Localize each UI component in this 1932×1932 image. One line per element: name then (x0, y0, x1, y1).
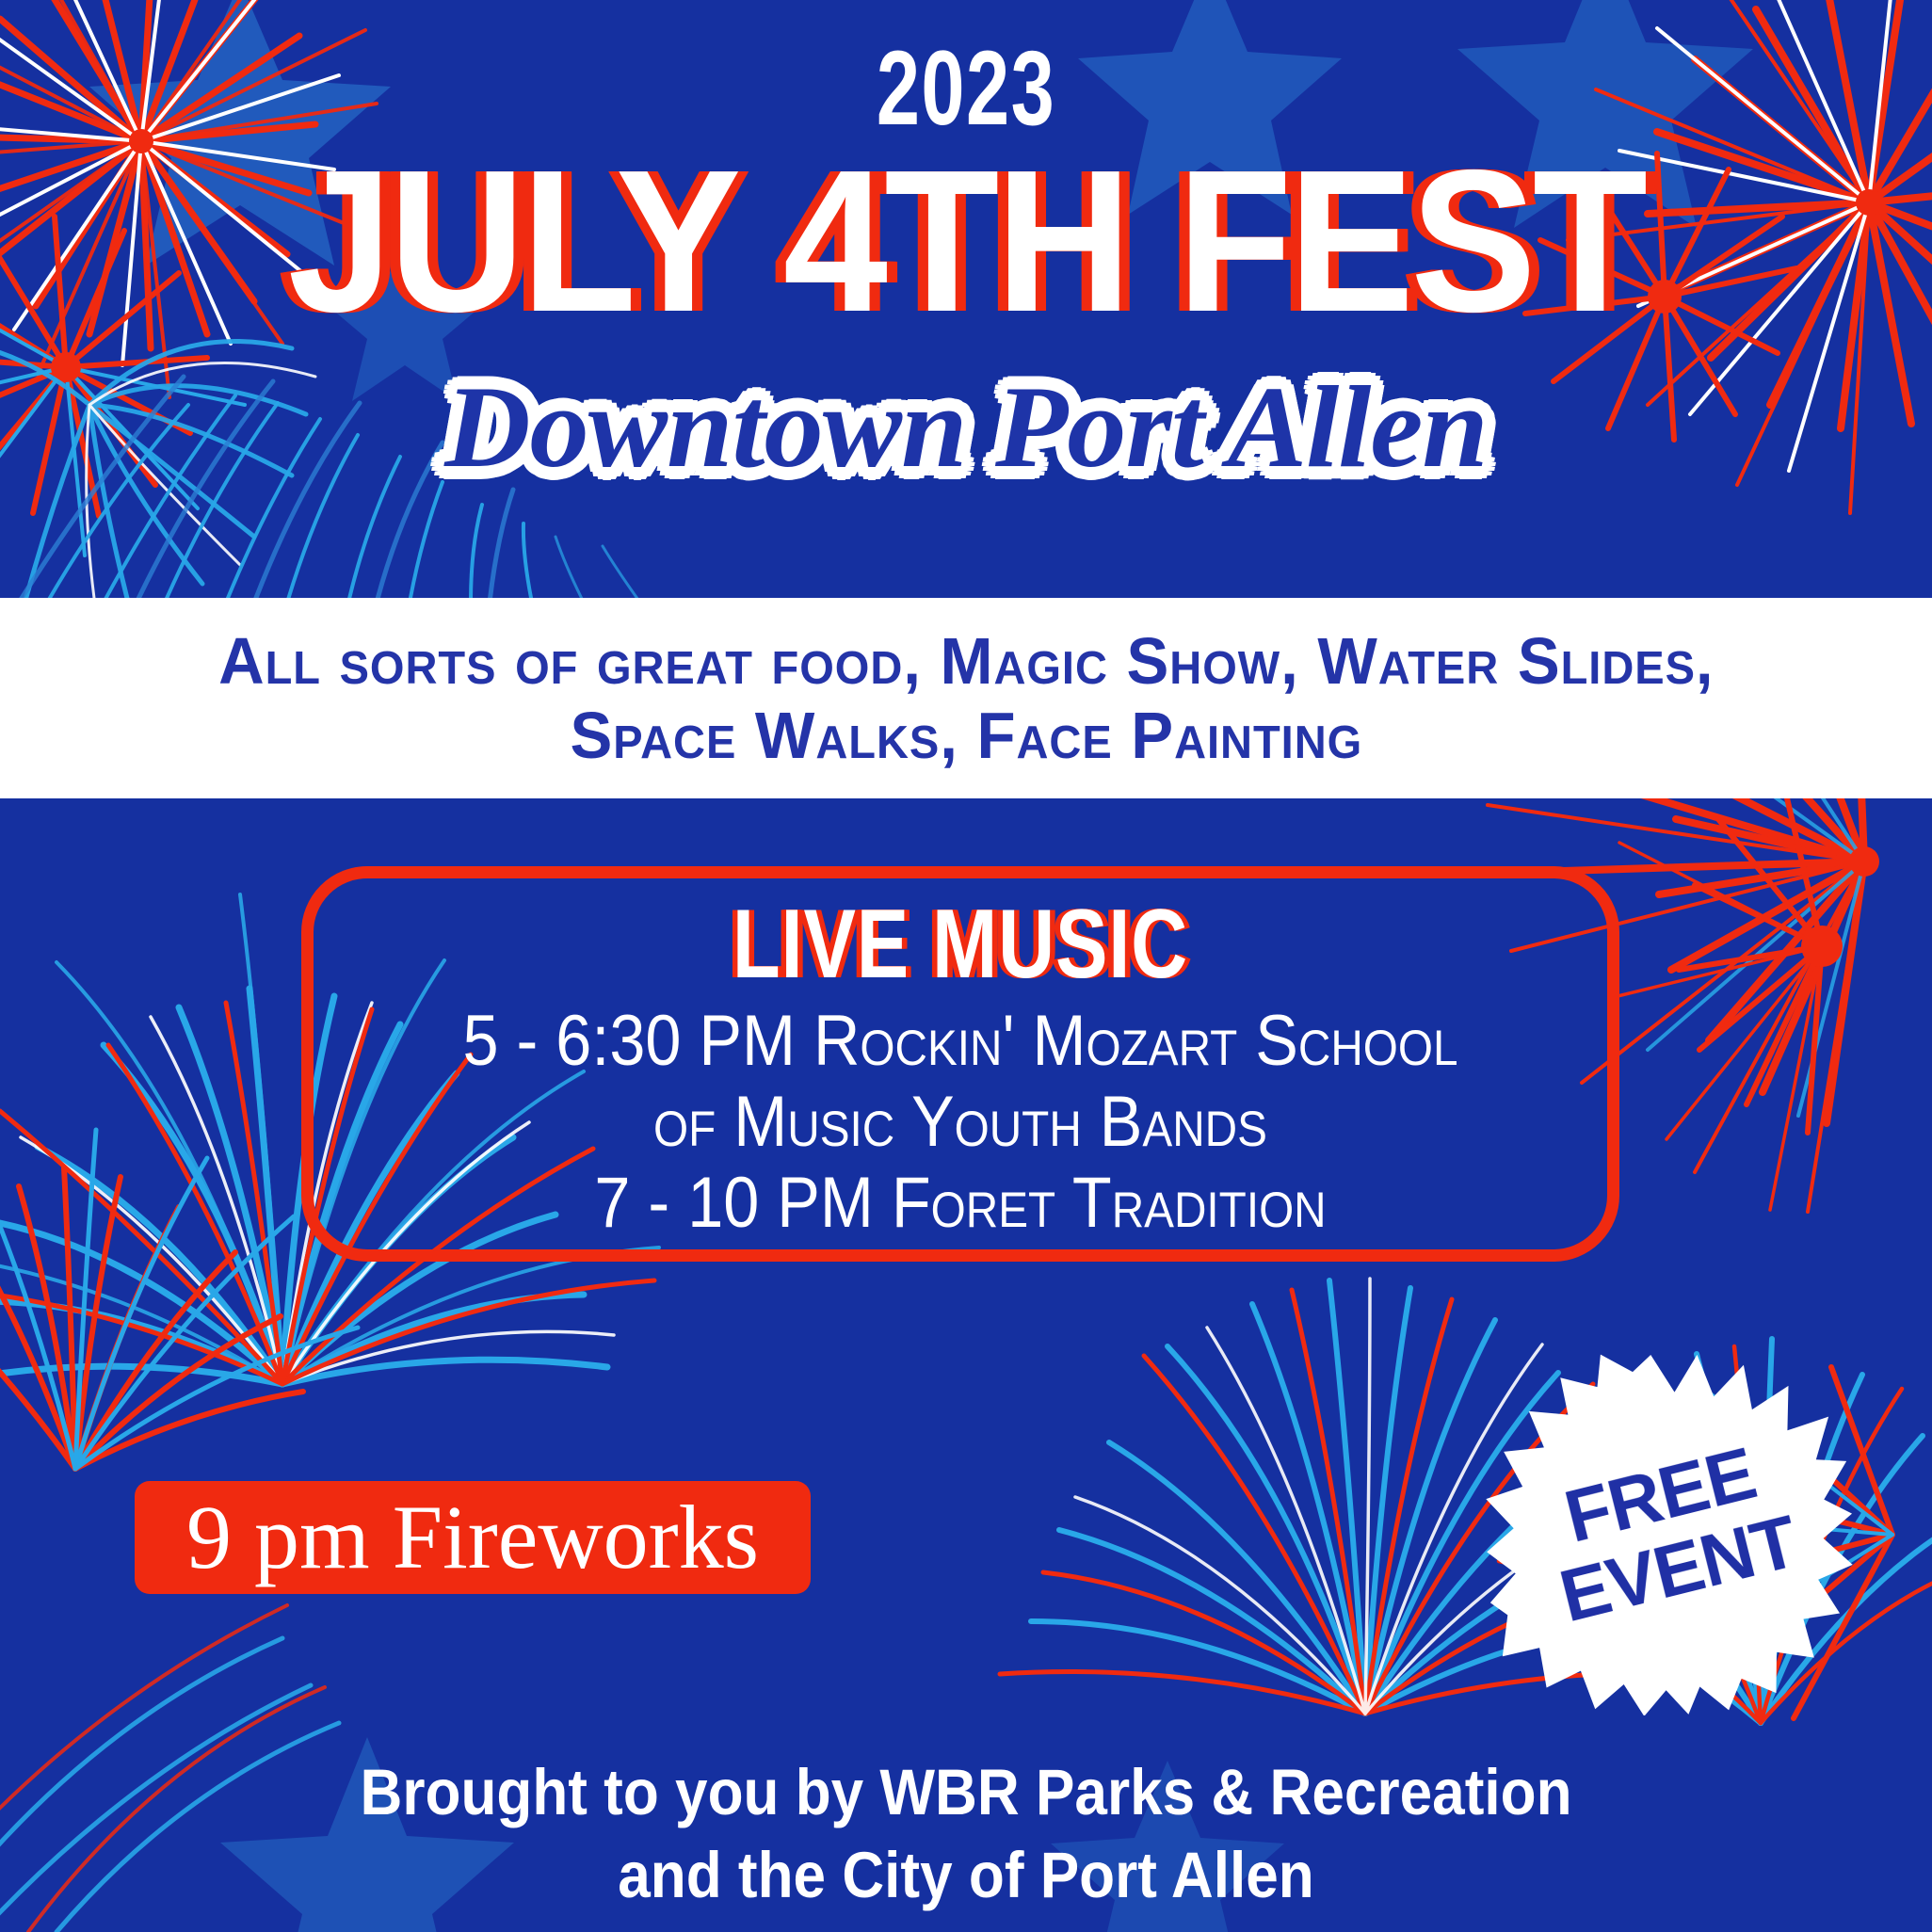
poster-canvas: 2023 JULY 4TH FEST Downtown Port Allen A… (0, 0, 1932, 1932)
event-year: 2023 (251, 36, 1681, 141)
fireworks-time-chip: 9 pm Fireworks (135, 1481, 811, 1594)
live-music-heading: LIVE MUSIC (443, 895, 1477, 993)
event-location-subtitle: Downtown Port Allen (0, 369, 1932, 486)
attractions-line-2: Space Walks, Face Painting (218, 699, 1714, 772)
fireworks-time-label: 9 pm Fireworks (186, 1492, 759, 1583)
poster-header: 2023 JULY 4TH FEST Downtown Port Allen (0, 0, 1932, 598)
music-schedule-line-2: of Music Youth Bands (378, 1082, 1543, 1163)
attractions-banner: All sorts of great food, Magic Show, Wat… (0, 598, 1932, 798)
attractions-line-1: All sorts of great food, Magic Show, Wat… (218, 624, 1714, 698)
sponsor-line-2: and the City of Port Allen (97, 1834, 1836, 1917)
live-music-schedule: 5 - 6:30 PM Rockin' Mozart School of Mus… (378, 1001, 1543, 1244)
sponsor-line-1: Brought to you by WBR Parks & Recreation (97, 1751, 1836, 1834)
sponsor-footer: Brought to you by WBR Parks & Recreation… (97, 1751, 1836, 1918)
music-schedule-line-1: 5 - 6:30 PM Rockin' Mozart School (378, 1001, 1543, 1082)
attractions-text: All sorts of great food, Magic Show, Wat… (191, 624, 1741, 772)
music-schedule-line-3: 7 - 10 PM Foret Tradition (378, 1163, 1543, 1244)
free-event-badge: FREE EVENT (1486, 1348, 1853, 1715)
page-title: JULY 4TH FEST (68, 139, 1864, 342)
live-music-box: LIVE MUSIC 5 - 6:30 PM Rockin' Mozart Sc… (301, 866, 1619, 1262)
